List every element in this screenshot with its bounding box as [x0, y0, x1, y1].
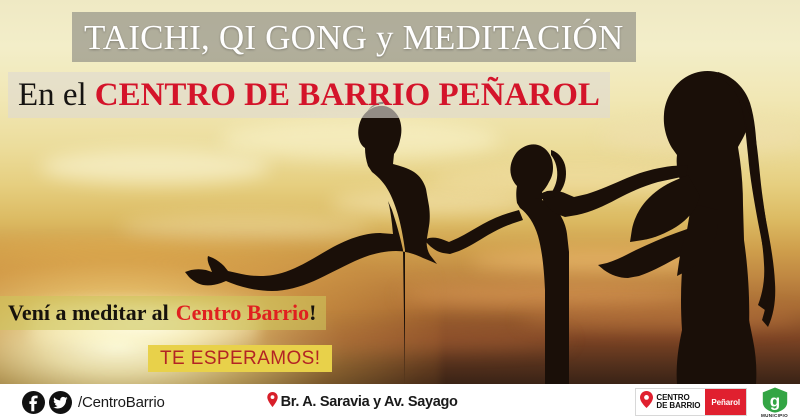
- svg-text:g: g: [769, 391, 779, 410]
- caption-suffix: !: [309, 300, 316, 326]
- logo-centro-line2: DE BARRIO: [656, 402, 700, 410]
- footer-address: Br. A. Saravia y Av. Sayago: [267, 392, 458, 412]
- map-pin-icon: [640, 391, 653, 413]
- silhouette-man-left: [185, 102, 437, 384]
- facebook-icon[interactable]: [22, 391, 45, 414]
- logo-centro-badge-text: Peñarol: [711, 398, 740, 407]
- twitter-icon[interactable]: [49, 391, 72, 414]
- social-handle[interactable]: /CentroBarrio: [78, 394, 165, 411]
- sunset-photo: TAICHI, QI GONG y MEDITACIÓN En el CENTR…: [0, 0, 800, 384]
- caption-highlight: Centro Barrio: [176, 300, 309, 326]
- silhouette-person-middle: [424, 144, 569, 384]
- caption-band: Vení a meditar al Centro Barrio !: [0, 296, 326, 330]
- logo-centro-badge: Peñarol: [705, 389, 746, 415]
- title-band-secondary: En el CENTRO DE BARRIO PEÑAROL: [8, 72, 610, 118]
- banner-title-line2-highlight: CENTRO DE BARRIO PEÑAROL: [95, 77, 600, 114]
- logo-centro-white-part: CENTRO DE BARRIO: [636, 389, 705, 415]
- logo-municipio-label: MUNICIPIO: [761, 413, 788, 418]
- banner-title-line2-prefix: En el: [18, 77, 87, 114]
- caption-prefix: Vení a meditar al: [8, 300, 169, 326]
- map-pin-icon: [267, 392, 278, 412]
- footer-social: /CentroBarrio: [22, 391, 165, 414]
- footer-logos: CENTRO DE BARRIO Peñarol g MUNICIPIO: [635, 387, 788, 418]
- call-to-action-text: TE ESPERAMOS!: [160, 348, 320, 370]
- footer-bar: /CentroBarrio Br. A. Saravia y Av. Sayag…: [0, 384, 800, 420]
- promo-banner: TAICHI, QI GONG y MEDITACIÓN En el CENTR…: [0, 0, 800, 420]
- logo-municipio-g[interactable]: g MUNICIPIO: [761, 387, 788, 418]
- address-text: Br. A. Saravia y Av. Sayago: [281, 394, 458, 410]
- logo-centro-de-barrio[interactable]: CENTRO DE BARRIO Peñarol: [635, 388, 747, 416]
- banner-title-line1: TAICHI, QI GONG y MEDITACIÓN: [84, 20, 624, 55]
- title-band-primary: TAICHI, QI GONG y MEDITACIÓN: [72, 12, 636, 62]
- municipio-shield-icon: g: [762, 387, 788, 413]
- call-to-action-band: TE ESPERAMOS!: [148, 345, 332, 372]
